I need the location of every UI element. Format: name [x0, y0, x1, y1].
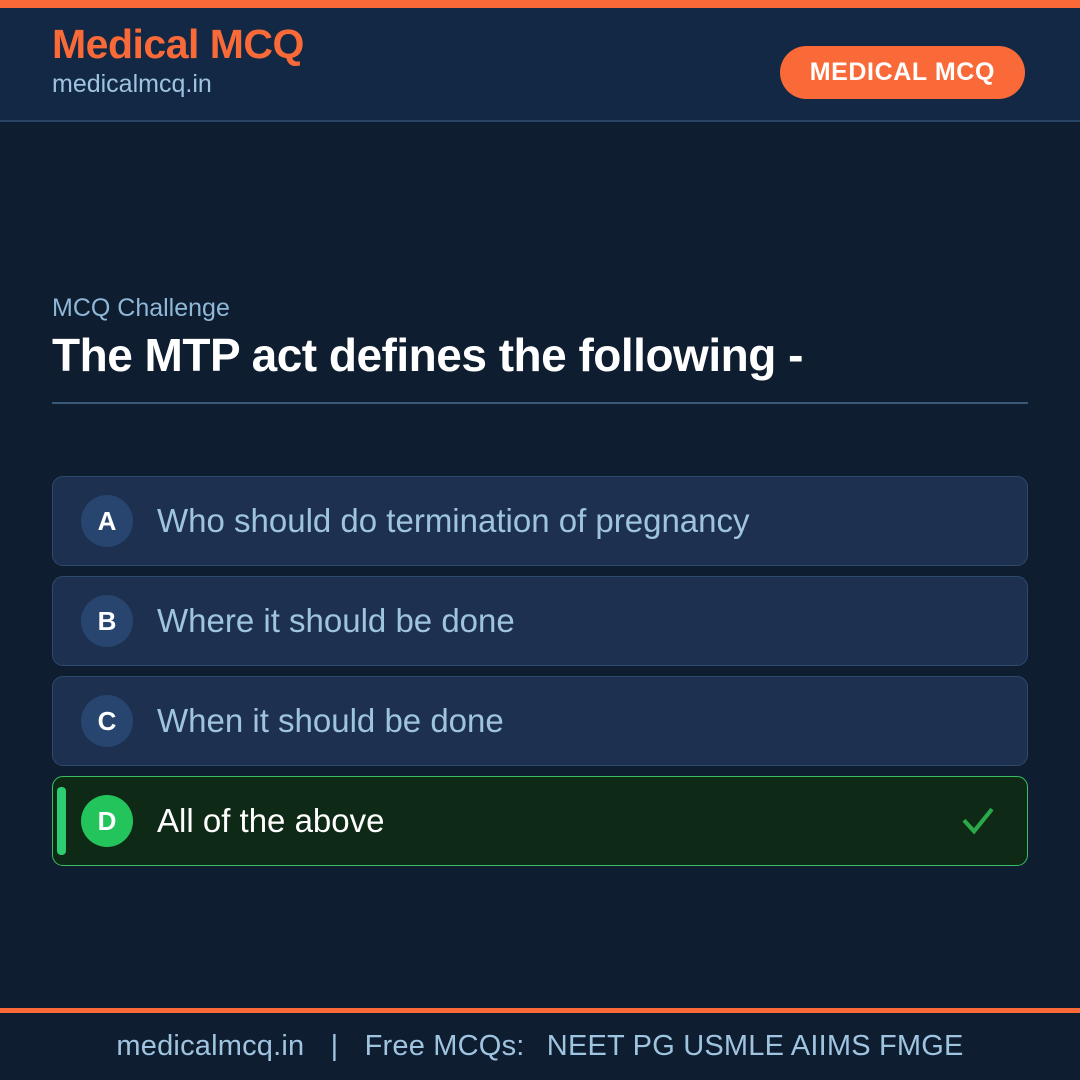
option-letter-badge: C: [81, 695, 133, 747]
footer-site: medicalmcq.in: [116, 1030, 304, 1062]
check-icon: [959, 802, 997, 840]
brand-block: Medical MCQ medicalmcq.in: [52, 22, 304, 100]
options-list: A Who should do termination of pregnancy…: [52, 476, 1028, 876]
footer-text: medicalmcq.in | Free MCQs: NEET PG USMLE…: [116, 1030, 963, 1063]
page-header: Medical MCQ medicalmcq.in MEDICAL MCQ: [0, 8, 1080, 122]
option-b[interactable]: B Where it should be done: [52, 576, 1028, 666]
eyebrow-label: MCQ Challenge: [52, 292, 1028, 325]
header-badge: MEDICAL MCQ: [780, 46, 1025, 99]
option-a[interactable]: A Who should do termination of pregnancy: [52, 476, 1028, 566]
question-block: MCQ Challenge The MTP act defines the fo…: [52, 292, 1028, 404]
footer-tags-label: Free MCQs:: [365, 1030, 525, 1062]
page-footer: medicalmcq.in | Free MCQs: NEET PG USMLE…: [0, 1008, 1080, 1080]
option-label: Where it should be done: [157, 601, 515, 641]
option-label: All of the above: [157, 801, 385, 841]
option-letter-badge: A: [81, 495, 133, 547]
option-c[interactable]: C When it should be done: [52, 676, 1028, 766]
option-label: When it should be done: [157, 701, 504, 741]
option-label: Who should do termination of pregnancy: [157, 501, 750, 541]
option-d[interactable]: D All of the above: [52, 776, 1028, 866]
footer-tags: NEET PG USMLE AIIMS FMGE: [533, 1030, 964, 1062]
question-divider: [52, 402, 1028, 404]
brand-subtitle: medicalmcq.in: [52, 69, 304, 100]
top-accent-bar: [0, 0, 1080, 8]
correct-accent-bar: [57, 787, 66, 855]
option-letter-badge: D: [81, 795, 133, 847]
footer-separator: |: [313, 1030, 357, 1062]
option-letter-badge: B: [81, 595, 133, 647]
brand-title: Medical MCQ: [52, 22, 304, 67]
page-title: The MTP act defines the following -: [52, 329, 1028, 382]
